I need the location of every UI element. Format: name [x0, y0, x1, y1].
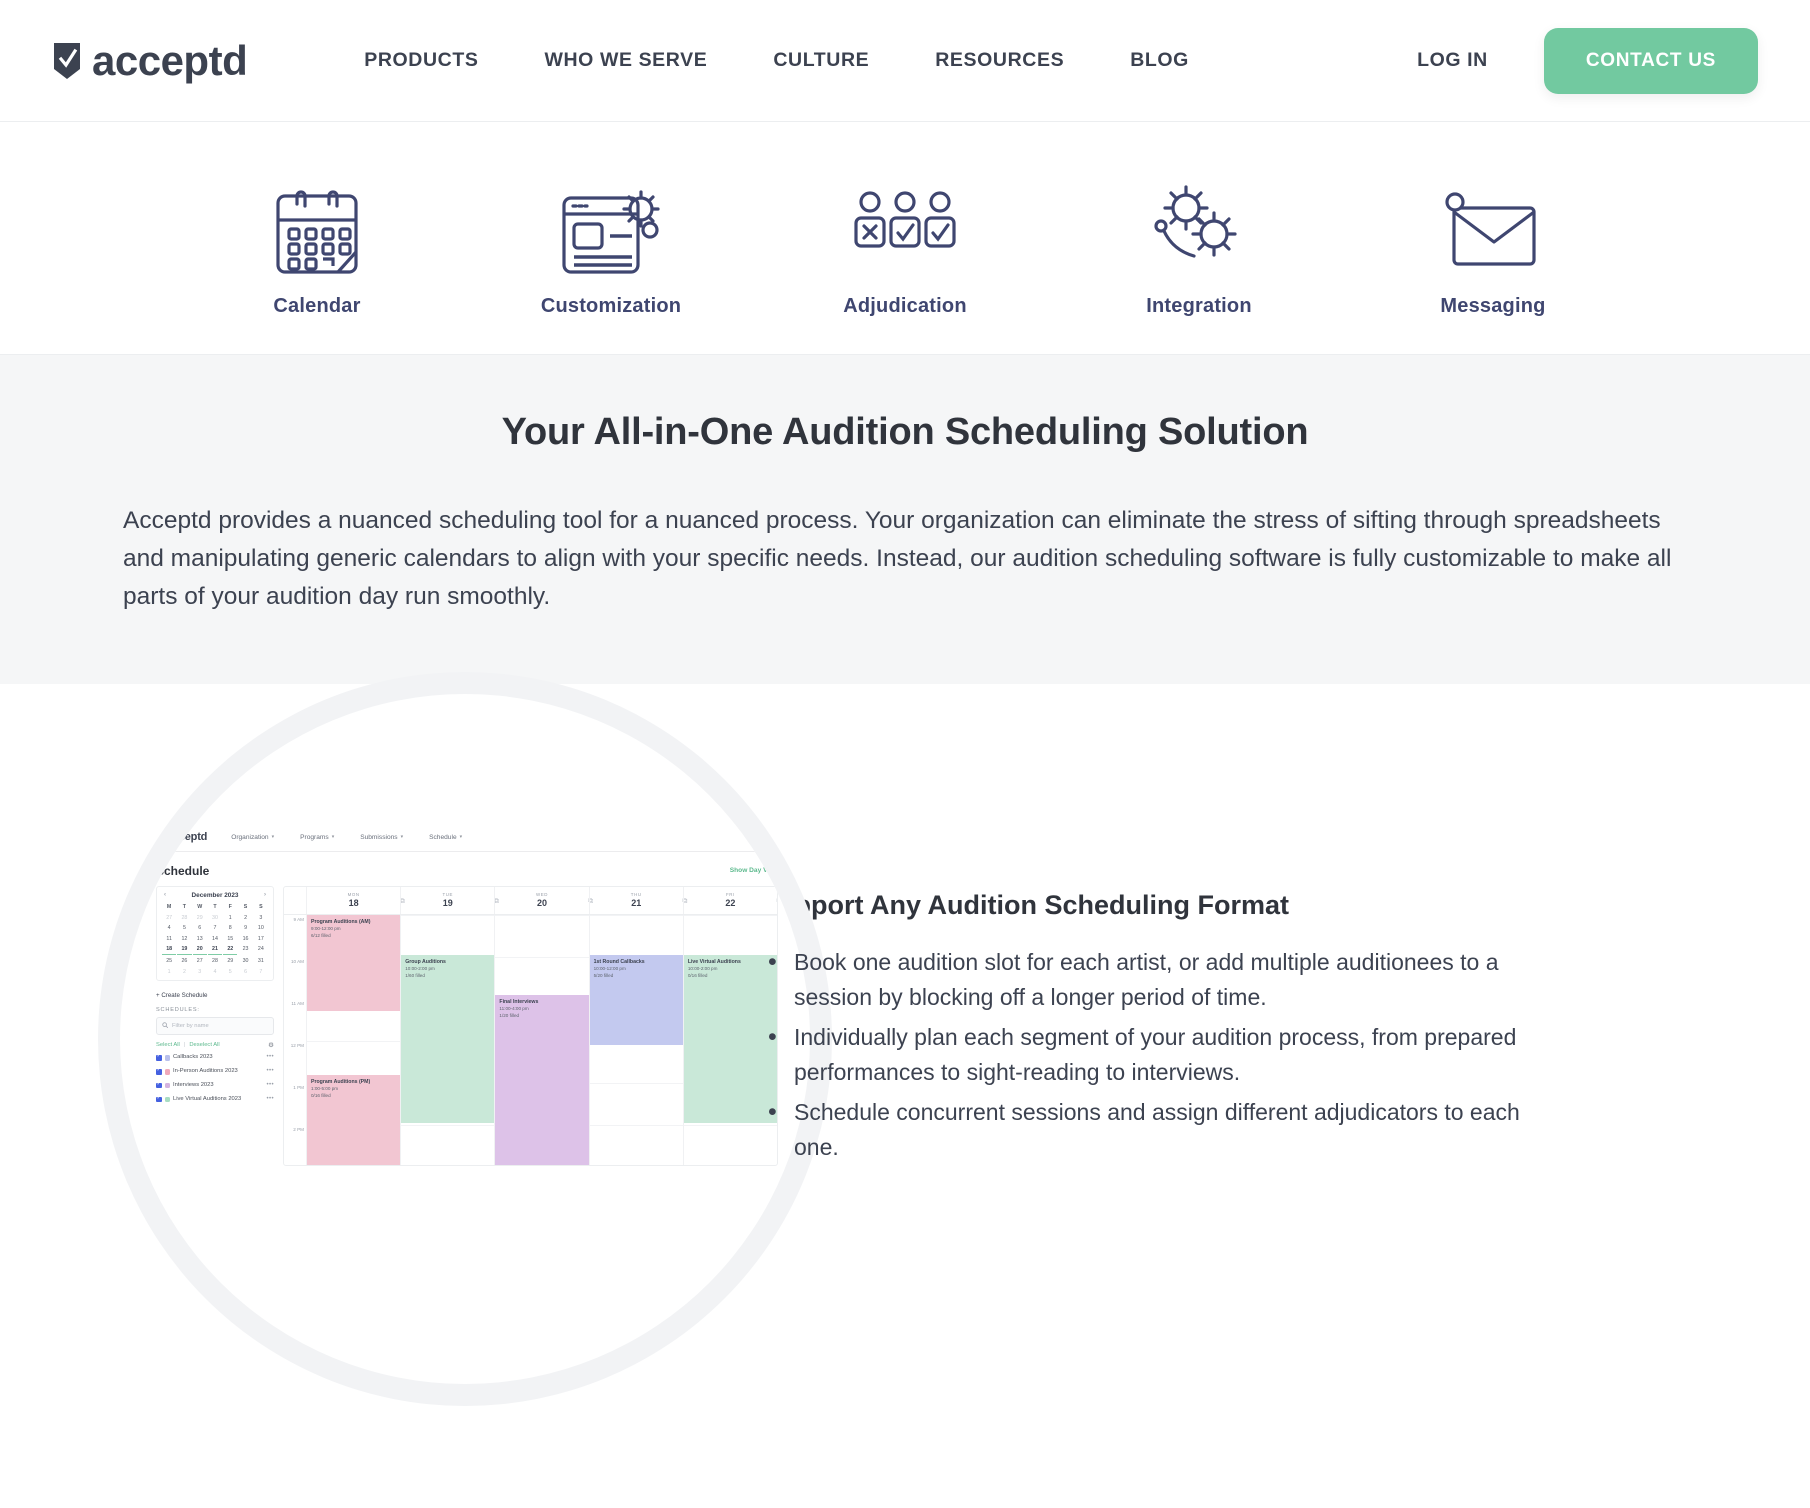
mini-calendar-day[interactable]: 28: [208, 956, 222, 966]
hour-gridline: [684, 915, 777, 916]
app-mockup: acceptd Organization▾ Programs▾ Submissi…: [142, 824, 792, 1304]
mini-calendar-dow: M: [162, 903, 176, 912]
feature-icon-adjudication[interactable]: Adjudication: [758, 158, 1052, 318]
mini-calendar-day[interactable]: 31: [254, 956, 268, 966]
day-of-week: TUE: [401, 892, 494, 897]
mini-calendar-dow: W: [193, 903, 207, 912]
feature-icon-label: Messaging: [1440, 295, 1545, 318]
app-brand-logo[interactable]: acceptd: [156, 831, 207, 843]
mini-calendar-day[interactable]: 4: [162, 924, 176, 934]
schedule-checkbox[interactable]: [156, 1083, 162, 1089]
calendar-day-header: MON18⧉: [306, 887, 400, 914]
mini-calendar-dow: T: [177, 903, 191, 912]
calendar-day-header: FRI22⧉: [683, 887, 777, 914]
brand-name: acceptd: [92, 37, 247, 85]
calendar-event[interactable]: Program Auditions (AM)9:00-12:00 pm6/12 …: [307, 915, 400, 1011]
event-title: Group Auditions: [405, 959, 490, 967]
login-link[interactable]: LOG IN: [1417, 49, 1544, 72]
chevron-down-icon: ▾: [460, 834, 463, 840]
brand-logo[interactable]: acceptd: [52, 37, 247, 85]
mini-calendar-day[interactable]: 14: [208, 934, 222, 944]
calendar-day-column[interactable]: Group Auditions10:00-2:00 pm1/60 filled: [400, 915, 494, 1165]
schedule-checkbox[interactable]: [156, 1097, 162, 1103]
hour-gridline: [307, 1041, 400, 1042]
event-time: 10:00-12:00 pm: [594, 966, 679, 973]
calendar-event[interactable]: Group Auditions10:00-2:00 pm1/60 filled: [401, 955, 494, 1123]
event-filled: 1/60 filled: [405, 973, 490, 980]
mini-calendar-day[interactable]: 1: [162, 967, 176, 977]
mini-calendar-day[interactable]: 27: [162, 913, 176, 923]
chevron-down-icon: ▾: [401, 834, 404, 840]
hour-label: 11 AM: [291, 1001, 304, 1006]
mini-calendar-day[interactable]: 3: [193, 967, 207, 977]
event-time: 9:00-12:00 pm: [311, 926, 396, 933]
feature-icon-strip: Calendar Customization: [0, 122, 1810, 354]
event-filled: 1/20 filled: [499, 1013, 584, 1020]
color-swatch: [165, 1097, 171, 1103]
time-gutter: 9 AM10 AM11 AM12 PM1 PM2 PM: [284, 915, 306, 1165]
list-item: Individually plan each segment of your a…: [760, 1020, 1550, 1090]
feature-heading: Support Any Audition Scheduling Format: [760, 890, 1550, 921]
chevron-down-icon: ▾: [332, 834, 335, 840]
app-nav-submissions[interactable]: Submissions▾: [360, 834, 403, 841]
schedule-filter-input[interactable]: Filter by name: [156, 1017, 274, 1035]
product-screenshot-area: acceptd Organization▾ Programs▾ Submissi…: [0, 684, 760, 1424]
intro-section: Your All-in-One Audition Scheduling Solu…: [0, 354, 1810, 684]
feature-icon-integration[interactable]: Integration: [1052, 158, 1346, 318]
more-options-icon[interactable]: •••: [266, 1082, 274, 1088]
hour-gridline: [590, 915, 683, 916]
mini-calendar-day[interactable]: 11: [162, 934, 176, 944]
mini-calendar-day[interactable]: 17: [254, 934, 268, 944]
day-of-week: FRI: [684, 892, 777, 897]
feature-icon-label: Adjudication: [843, 295, 967, 318]
app-nav-programs[interactable]: Programs▾: [300, 834, 334, 841]
list-item[interactable]: In-Person Auditions 2023•••: [156, 1068, 274, 1076]
list-item: Schedule concurrent sessions and assign …: [760, 1095, 1550, 1165]
app-nav: Organization▾ Programs▾ Submissions▾ Sch…: [231, 834, 462, 841]
mini-calendar-day[interactable]: 23: [238, 945, 252, 956]
schedule-name: In-Person Auditions 2023: [173, 1068, 263, 1076]
mini-calendar-dow: T: [208, 903, 222, 912]
hour-label: 12 PM: [291, 1043, 304, 1048]
mini-calendar-day[interactable]: 12: [177, 934, 191, 944]
color-swatch: [165, 1069, 171, 1075]
hour-gridline: [495, 915, 588, 916]
mini-calendar-day[interactable]: 15: [223, 934, 237, 944]
mini-calendar: ‹ December 2023 › MTWTFSS272829301234567…: [156, 886, 274, 982]
page-title: Your All-in-One Audition Scheduling Solu…: [0, 411, 1810, 454]
mini-calendar-day[interactable]: 10: [254, 924, 268, 934]
schedule-checkbox[interactable]: [156, 1055, 162, 1061]
mini-calendar-day[interactable]: 4: [208, 967, 222, 977]
top-navigation-bar: acceptd PRODUCTS WHO WE SERVE CULTURE RE…: [0, 0, 1810, 122]
mini-calendar-day[interactable]: 9: [238, 924, 252, 934]
hour-gridline: [401, 1125, 494, 1126]
filter-placeholder: Filter by name: [172, 1023, 209, 1029]
feature-icon-calendar[interactable]: Calendar: [170, 158, 464, 318]
copy-day-icon[interactable]: ⧉: [777, 898, 778, 906]
feature-icon-messaging[interactable]: Messaging: [1346, 158, 1640, 318]
hour-label: 2 PM: [293, 1127, 304, 1132]
mini-calendar-day[interactable]: 26: [177, 956, 191, 966]
messaging-icon: [1438, 177, 1548, 283]
adjudication-icon: [845, 177, 965, 283]
deselect-all-link[interactable]: Deselect All: [189, 1042, 219, 1048]
hour-label: 9 AM: [294, 917, 304, 922]
mini-calendar-dow: F: [223, 903, 237, 912]
integration-icon: [1140, 177, 1258, 283]
hour-gridline: [590, 1083, 683, 1084]
calendar-day-header: TUE19⧉: [400, 887, 494, 914]
app-page-title: Schedule: [156, 864, 209, 878]
nav-item-products[interactable]: PRODUCTS: [331, 49, 511, 72]
mini-calendar-day[interactable]: 30: [208, 913, 222, 923]
mini-calendar-day[interactable]: 2: [177, 967, 191, 977]
day-of-week: WED: [495, 892, 588, 897]
schedules-label: SCHEDULES:: [156, 1007, 274, 1013]
week-calendar: MON18⧉TUE19⧉WED20⧉THU21⧉FRI22⧉ 9 AM10 AM…: [283, 886, 778, 1166]
calendar-day-column[interactable]: 1st Round Callbacks10:00-12:00 pm5/20 fi…: [589, 915, 683, 1165]
calendar-day-column[interactable]: Program Auditions (AM)9:00-12:00 pm6/12 …: [306, 915, 400, 1165]
event-time: 10:00-2:00 pm: [405, 966, 490, 973]
app-nav-schedule[interactable]: Schedule▾: [429, 834, 462, 841]
mini-calendar-day[interactable]: 25: [162, 956, 176, 966]
mini-calendar-day[interactable]: 13: [193, 934, 207, 944]
day-number: 21: [590, 898, 683, 908]
circular-frame: acceptd Organization▾ Programs▾ Submissi…: [120, 694, 810, 1384]
mini-calendar-header: ‹ December 2023 ›: [162, 892, 268, 899]
list-item: Book one audition slot for each artist, …: [760, 945, 1550, 1015]
app-brand-name: acceptd: [167, 831, 207, 843]
mini-calendar-day[interactable]: 21: [208, 945, 222, 956]
mini-calendar-day[interactable]: 6: [238, 967, 252, 977]
primary-nav-links: PRODUCTS WHO WE SERVE CULTURE RESOURCES …: [331, 49, 1222, 72]
mini-calendar-day[interactable]: 22: [223, 945, 237, 956]
color-swatch: [165, 1083, 171, 1089]
mini-calendar-day[interactable]: 20: [193, 945, 207, 956]
schedule-checkbox[interactable]: [156, 1069, 162, 1075]
nav-item-blog[interactable]: BLOG: [1097, 49, 1222, 72]
list-item[interactable]: Callbacks 2023•••: [156, 1054, 274, 1062]
app-body: ‹ December 2023 › MTWTFSS272829301234567…: [142, 886, 792, 1166]
calendar-event[interactable]: 1st Round Callbacks10:00-12:00 pm5/20 fi…: [590, 955, 683, 1045]
mini-calendar-day[interactable]: 18: [162, 945, 176, 956]
nav-item-culture[interactable]: CULTURE: [740, 49, 902, 72]
feature-text-column: Support Any Audition Scheduling Format B…: [760, 684, 1550, 1170]
customization-icon: [552, 177, 670, 283]
acceptd-checkmark-icon: [52, 42, 82, 80]
mini-calendar-day[interactable]: 30: [238, 956, 252, 966]
mini-calendar-day[interactable]: 16: [238, 934, 252, 944]
mini-calendar-day[interactable]: 27: [193, 956, 207, 966]
mini-calendar-day[interactable]: 1: [223, 913, 237, 923]
event-title: 1st Round Callbacks: [594, 959, 679, 967]
mini-calendar-day[interactable]: 5: [223, 967, 237, 977]
acceptd-checkmark-icon: [156, 833, 164, 842]
day-number: 18: [307, 898, 400, 908]
event-time: 11:00-4:00 pm: [499, 1006, 584, 1013]
mini-calendar-day[interactable]: 24: [254, 945, 268, 956]
feature-icon-label: Customization: [541, 295, 681, 318]
mini-calendar-month: December 2023: [192, 892, 239, 899]
next-month-button[interactable]: ›: [264, 892, 266, 898]
day-number: 19: [401, 898, 494, 908]
gear-icon[interactable]: ⚙: [268, 1041, 274, 1049]
prev-month-button[interactable]: ‹: [164, 892, 166, 898]
calendar-day-column[interactable]: Final Interviews11:00-4:00 pm1/20 filled: [494, 915, 588, 1165]
mini-calendar-day[interactable]: 6: [193, 924, 207, 934]
mini-calendar-day[interactable]: 28: [177, 913, 191, 923]
schedule-name: Live Virtual Auditions 2023: [173, 1096, 263, 1104]
intro-paragraph: Acceptd provides a nuanced scheduling to…: [55, 502, 1755, 616]
feature-section: acceptd Organization▾ Programs▾ Submissi…: [0, 684, 1810, 1444]
day-number: 20: [495, 898, 588, 908]
day-of-week: MON: [307, 892, 400, 897]
mini-calendar-day[interactable]: 7: [208, 924, 222, 934]
app-sidebar: ‹ December 2023 › MTWTFSS272829301234567…: [156, 886, 274, 1166]
color-swatch: [165, 1055, 171, 1061]
calendar-event[interactable]: Final Interviews11:00-4:00 pm1/20 filled: [495, 995, 588, 1165]
mini-calendar-day[interactable]: 29: [193, 913, 207, 923]
hour-gridline: [495, 957, 588, 958]
calendar-event[interactable]: Program Auditions (PM)1:00-5:00 pm0/16 f…: [307, 1075, 400, 1165]
mini-calendar-day[interactable]: 3: [254, 913, 268, 923]
mini-calendar-day[interactable]: 7: [254, 967, 268, 977]
event-title: Final Interviews: [499, 999, 584, 1007]
feature-bullet-list: Book one audition slot for each artist, …: [760, 945, 1550, 1165]
feature-icon-customization[interactable]: Customization: [464, 158, 758, 318]
day-of-week: THU: [590, 892, 683, 897]
calendar-body: 9 AM10 AM11 AM12 PM1 PM2 PM Program Audi…: [284, 915, 777, 1165]
separator: |: [184, 1042, 186, 1048]
more-options-icon[interactable]: •••: [266, 1068, 274, 1074]
feature-icon-label: Calendar: [273, 295, 360, 318]
select-controls: Select All | Deselect All ⚙: [156, 1041, 274, 1049]
hour-label: 1 PM: [293, 1085, 304, 1090]
time-gutter-spacer: [284, 887, 306, 914]
contact-us-button[interactable]: CONTACT US: [1544, 28, 1758, 94]
list-item[interactable]: Live Virtual Auditions 2023•••: [156, 1096, 274, 1104]
create-schedule-button[interactable]: + Create Schedule: [156, 992, 274, 999]
nav-item-resources[interactable]: RESOURCES: [902, 49, 1097, 72]
day-number: 22: [684, 898, 777, 908]
search-icon: [162, 1022, 168, 1030]
hour-gridline: [401, 915, 494, 916]
mini-calendar-grid: MTWTFSS272829301234567891011121314151617…: [162, 903, 268, 977]
schedule-name: Interviews 2023: [173, 1082, 263, 1090]
calendar-icon: [264, 177, 370, 283]
mini-calendar-day[interactable]: 8: [223, 924, 237, 934]
calendar-day-headers: MON18⧉TUE19⧉WED20⧉THU21⧉FRI22⧉: [284, 887, 777, 915]
mini-calendar-dow: S: [238, 903, 252, 912]
calendar-day-header: WED20⧉: [494, 887, 588, 914]
calendar-day-header: THU21⧉: [589, 887, 683, 914]
event-filled: 6/12 filled: [311, 933, 396, 940]
list-item[interactable]: Interviews 2023•••: [156, 1082, 274, 1090]
nav-item-who-we-serve[interactable]: WHO WE SERVE: [511, 49, 740, 72]
app-nav-organization[interactable]: Organization▾: [231, 834, 274, 841]
calendar-columns: Program Auditions (AM)9:00-12:00 pm6/12 …: [306, 915, 777, 1165]
mini-calendar-day[interactable]: 19: [177, 945, 191, 956]
mini-calendar-day[interactable]: 29: [223, 956, 237, 966]
hour-gridline: [590, 1125, 683, 1126]
select-all-link[interactable]: Select All: [156, 1042, 180, 1048]
mini-calendar-day[interactable]: 5: [177, 924, 191, 934]
more-options-icon[interactable]: •••: [266, 1054, 274, 1060]
show-day-view-link[interactable]: Show Day View: [730, 867, 778, 874]
event-filled: 0/16 filled: [311, 1093, 396, 1100]
event-title: Program Auditions (PM): [311, 1079, 396, 1087]
mini-calendar-day[interactable]: 2: [238, 913, 252, 923]
chevron-down-icon: ▾: [272, 834, 275, 840]
event-time: 1:00-5:00 pm: [311, 1086, 396, 1093]
schedule-name: Callbacks 2023: [173, 1054, 263, 1062]
schedule-list: Callbacks 2023•••In-Person Auditions 202…: [156, 1054, 274, 1103]
hour-label: 10 AM: [291, 959, 304, 964]
event-title: Program Auditions (AM): [311, 919, 396, 927]
app-page-header: Schedule Show Day View: [142, 852, 792, 886]
mini-calendar-dow: S: [254, 903, 268, 912]
feature-icon-label: Integration: [1146, 295, 1252, 318]
more-options-icon[interactable]: •••: [266, 1096, 274, 1102]
event-filled: 5/20 filled: [594, 973, 679, 980]
nav-actions: LOG IN CONTACT US: [1417, 28, 1758, 94]
app-topbar: acceptd Organization▾ Programs▾ Submissi…: [142, 824, 792, 852]
